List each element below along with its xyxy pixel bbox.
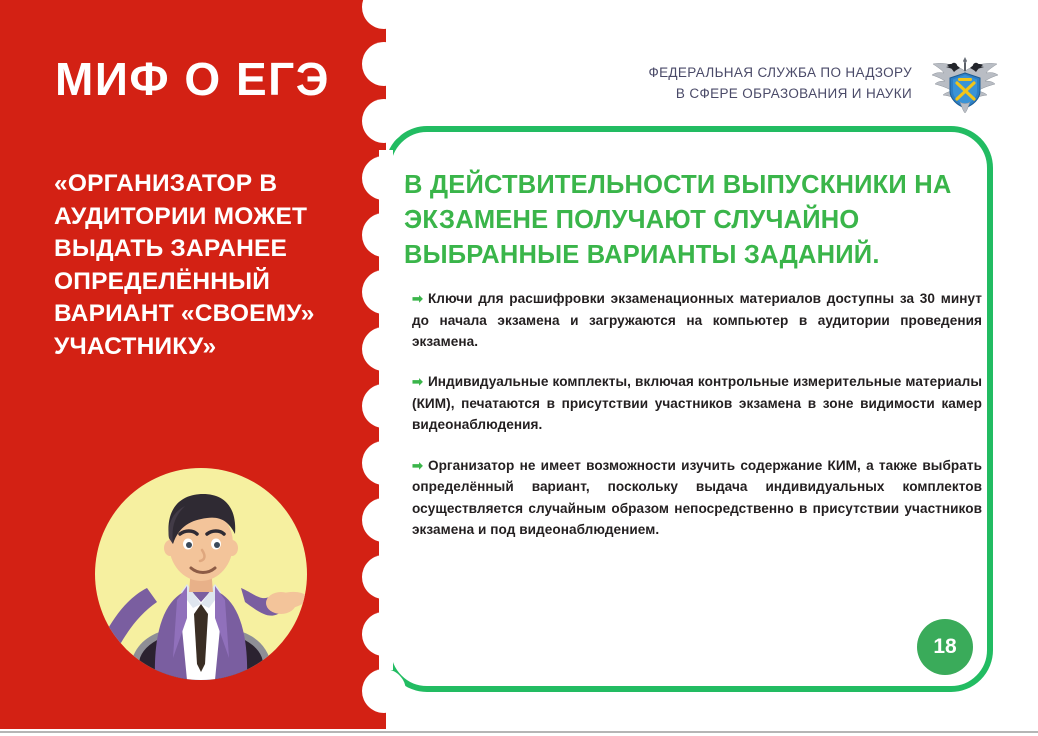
bullet-item: ➡Организатор не имеет возможности изучит… <box>412 455 982 541</box>
bullet-item: ➡Ключи для расшифровки экзаменационных м… <box>412 288 982 352</box>
perforation-notch <box>362 99 406 143</box>
slide-canvas: МИФ О ЕГЭ «ОРГАНИЗАТОР В АУДИТОРИИ МОЖЕТ… <box>0 0 1038 736</box>
perforation-notch <box>362 498 406 542</box>
perforation-notch <box>362 327 406 371</box>
bullet-text: Ключи для расшифровки экзаменационных ма… <box>412 291 982 349</box>
arrow-right-icon: ➡ <box>412 289 423 310</box>
perforation-notch <box>362 555 406 599</box>
perforation-notch <box>362 384 406 428</box>
perforation-notch <box>362 42 406 86</box>
left-red-panel: МИФ О ЕГЭ «ОРГАНИЗАТОР В АУДИТОРИИ МОЖЕТ… <box>0 0 386 729</box>
agency-name: ФЕДЕРАЛЬНАЯ СЛУЖБА ПО НАДЗОРУ В СФЕРЕ ОБ… <box>648 63 912 105</box>
arrow-right-icon: ➡ <box>412 372 423 393</box>
perforation-notch <box>362 441 406 485</box>
perforation-notch <box>362 270 406 314</box>
header: ФЕДЕРАЛЬНАЯ СЛУЖБА ПО НАДЗОРУ В СФЕРЕ ОБ… <box>600 55 1000 113</box>
bullet-text: Индивидуальные комплекты, включая контро… <box>412 374 982 432</box>
bullet-list: ➡Ключи для расшифровки экзаменационных м… <box>412 288 982 560</box>
arrow-right-icon: ➡ <box>412 456 423 477</box>
myth-quote-text: «ОРГАНИЗАТОР В АУДИТОРИИ МОЖЕТ ВЫДАТЬ ЗА… <box>54 168 354 363</box>
bullet-item: ➡Индивидуальные комплекты, включая контр… <box>412 371 982 435</box>
page-title: МИФ О ЕГЭ <box>55 56 355 102</box>
page-number-badge: 18 <box>917 619 973 675</box>
perforation-notch <box>362 213 406 257</box>
shrugging-man-illustration <box>95 468 307 680</box>
perforation-notch <box>362 612 406 656</box>
footer-divider <box>0 731 1038 733</box>
perforation-notch <box>362 669 406 713</box>
content-headline: В ДЕЙСТВИТЕЛЬНОСТИ ВЫПУСКНИКИ НА ЭКЗАМЕН… <box>404 168 974 273</box>
perforation-notch <box>362 156 406 200</box>
bullet-text: Организатор не имеет возможности изучить… <box>412 458 982 537</box>
rosobrnadzor-eagle-emblem <box>930 55 1000 113</box>
